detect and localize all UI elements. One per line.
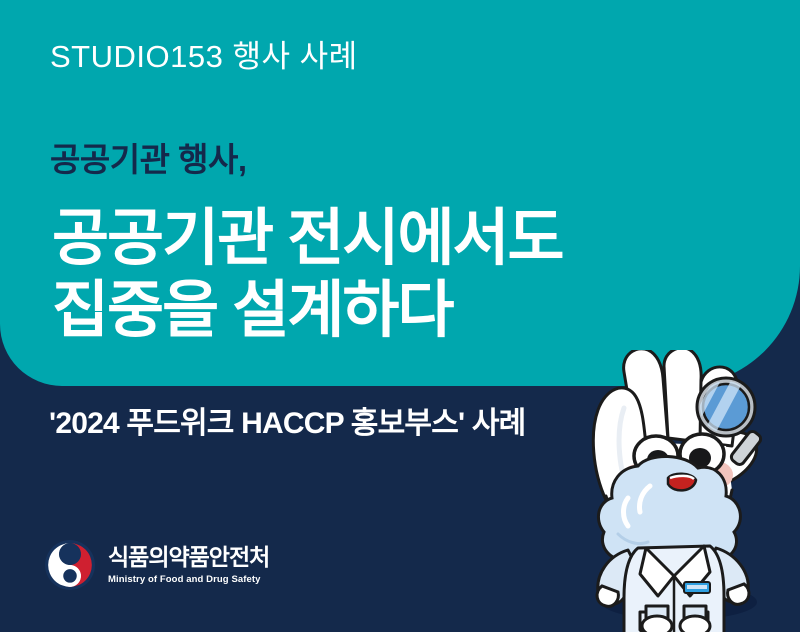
hero-headline: 공공기관 전시에서도 집중을 설계하다	[52, 205, 563, 345]
poster-card: STUDIO153 행사 사례 공공기관 행사, 공공기관 전시에서도 집중을 …	[0, 0, 800, 632]
eyebrow-label: STUDIO153 행사 사례	[50, 31, 358, 76]
headline-line-2: 집중을 설계하다	[52, 277, 563, 345]
logo-korean-name: 식품의약품안전처	[108, 545, 269, 570]
hero-kicker: 공공기관 행사,	[50, 133, 247, 181]
haccp-mascot-illustration	[576, 350, 800, 632]
logo-english-name: Ministry of Food and Drug Safety	[108, 574, 269, 585]
hero-subtitle: '2024 푸드위크 HACCP 홍보부스' 사례	[49, 398, 525, 442]
mfds-logo: 식품의약품안전처 Ministry of Food and Drug Safet…	[44, 539, 269, 591]
logo-wordmark: 식품의약품안전처 Ministry of Food and Drug Safet…	[108, 545, 269, 584]
taegeuk-emblem-icon	[44, 539, 96, 591]
headline-line-1: 공공기관 전시에서도	[52, 205, 563, 273]
mascot-lab-coat	[598, 546, 748, 632]
